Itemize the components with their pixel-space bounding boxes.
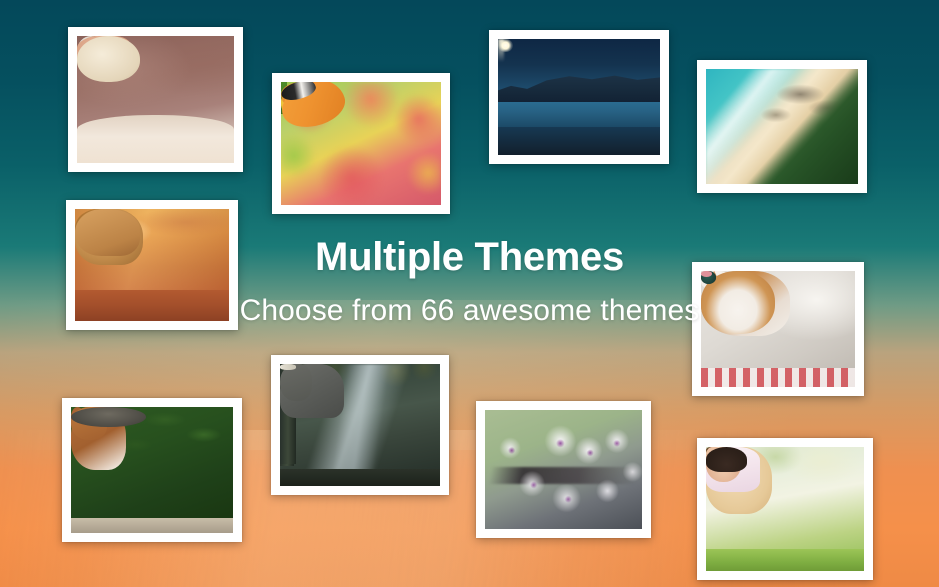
page-subtitle: Choose from 66 awesome themes xyxy=(0,294,939,328)
stone-ledge xyxy=(71,518,233,533)
photo-baby-bonnet xyxy=(77,36,234,163)
blanket-shape xyxy=(77,115,234,163)
moon-reflection xyxy=(498,39,504,62)
photo-cherry-blossom xyxy=(485,410,642,529)
stone-bowl-shape xyxy=(71,407,146,427)
photo-toddler-teddy xyxy=(706,447,864,571)
photo-frame-red-squirrel[interactable] xyxy=(62,398,242,542)
photo-frame-elephant-forest[interactable] xyxy=(271,355,449,495)
promo-screenshot: Multiple Themes Choose from 66 awesome t… xyxy=(0,0,939,587)
elephant-tusk-shape xyxy=(280,364,296,370)
photo-frame-toddler-teddy[interactable] xyxy=(697,438,873,580)
photo-elephant-forest xyxy=(280,364,440,486)
photo-frame-baby-bonnet[interactable] xyxy=(68,27,243,172)
coastal-forest xyxy=(706,69,858,184)
toddler-hair-shape xyxy=(706,447,747,472)
photo-aerial-beach xyxy=(706,69,858,184)
page-title: Multiple Themes xyxy=(0,236,939,278)
photo-frame-moonlit-lake[interactable] xyxy=(489,30,669,164)
photo-frame-cherry-blossom[interactable] xyxy=(476,401,651,538)
forest-floor xyxy=(280,469,440,486)
photo-frame-aerial-beach[interactable] xyxy=(697,60,867,193)
baby-bonnet-shape xyxy=(77,36,140,82)
photo-frame-butterfly-flowers[interactable] xyxy=(272,73,450,214)
promo-text-block: Multiple Themes Choose from 66 awesome t… xyxy=(0,236,939,328)
photo-butterfly-flowers xyxy=(281,82,441,205)
photo-moonlit-lake xyxy=(498,39,660,155)
checkered-cloth xyxy=(701,368,855,387)
mountain-ridge xyxy=(498,74,660,104)
blossom-stamens xyxy=(485,410,642,529)
rocky-shore xyxy=(498,118,660,155)
photo-red-squirrel xyxy=(71,407,233,533)
grass-lawn xyxy=(706,549,864,571)
